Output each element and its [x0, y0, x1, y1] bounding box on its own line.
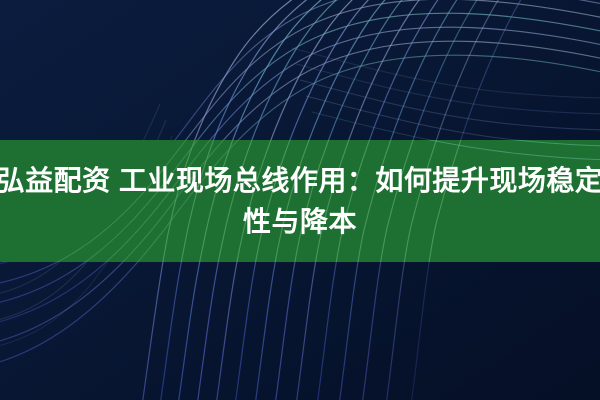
banner-title: 弘益配资 工业现场总线作用：如何提升现场稳定 性与降本 [0, 140, 600, 262]
title-line-2: 性与降本 [243, 201, 357, 242]
article-banner: 弘益配资 工业现场总线作用：如何提升现场稳定 性与降本 [0, 0, 600, 400]
title-line-1: 弘益配资 工业现场总线作用：如何提升现场稳定 [0, 160, 600, 201]
